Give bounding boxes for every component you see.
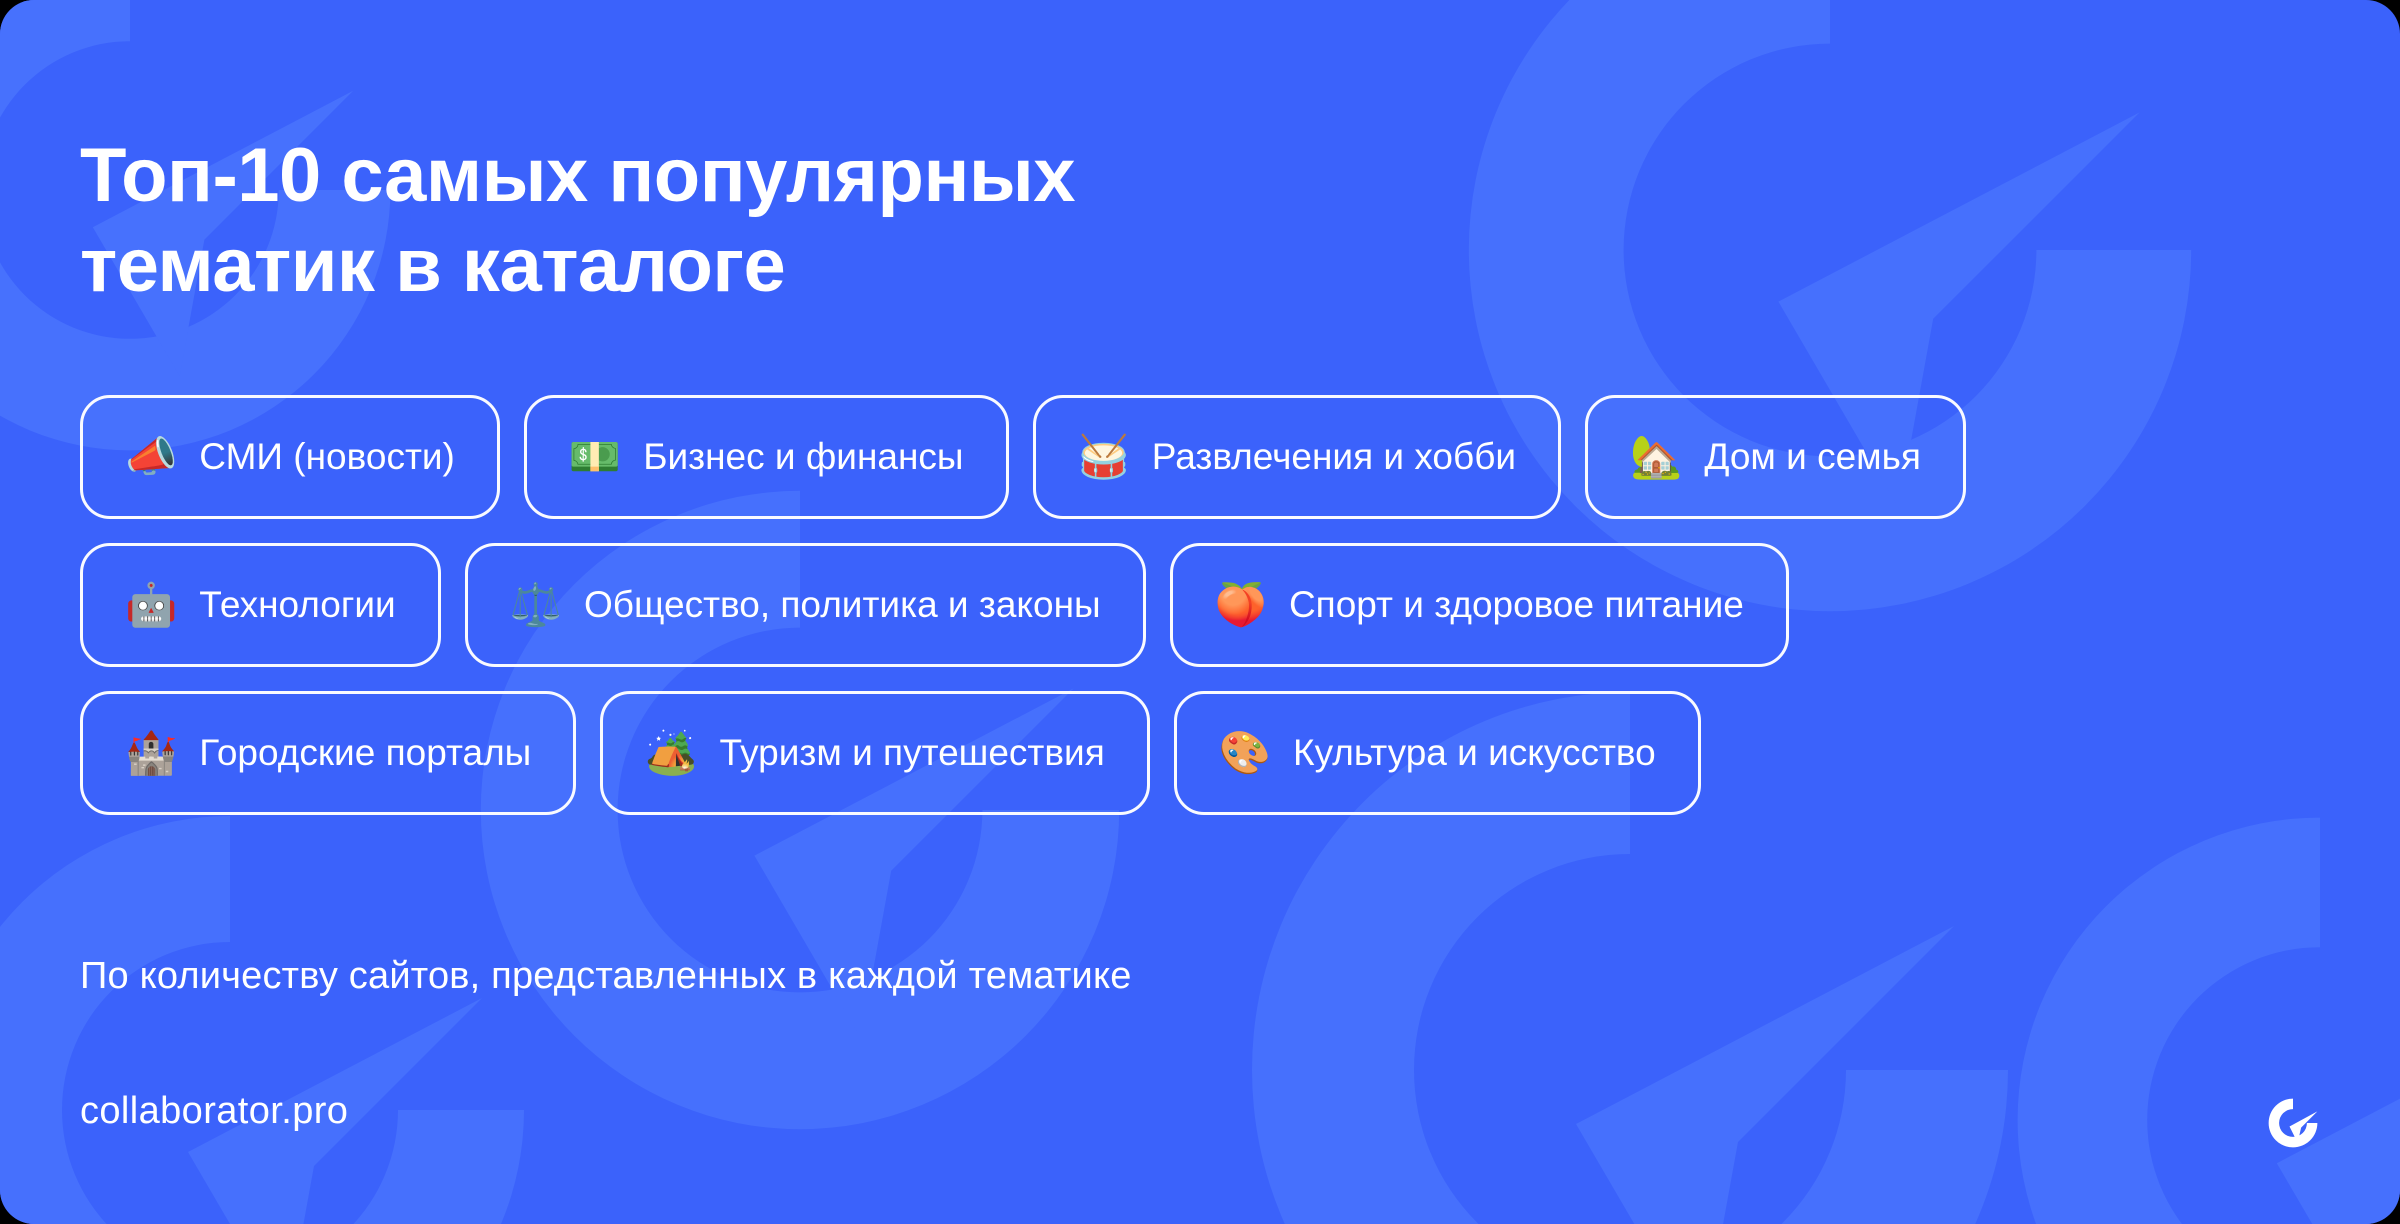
megaphone-icon: 📣 (125, 436, 177, 478)
topic-pill[interactable]: 🏰Городские порталы (80, 691, 576, 815)
topic-pill-label: Туризм и путешествия (720, 732, 1105, 774)
topic-pill-label: Развлечения и хобби (1152, 436, 1516, 478)
topic-pill-row: 🤖Технологии⚖️Общество, политика и законы… (80, 543, 2320, 667)
house-with-garden-icon: 🏡 (1630, 436, 1682, 478)
balance-scale-icon: ⚖️ (510, 584, 562, 626)
page-title: Топ-10 самых популярных тематик в катало… (80, 131, 1580, 310)
subtitle-caption: По количеству сайтов, представленных в к… (80, 955, 1132, 998)
collaborator-logo-icon (2264, 1094, 2322, 1152)
camping-tent-icon: 🏕️ (645, 732, 697, 774)
money-banknote-icon: 💵 (569, 436, 621, 478)
robot-icon: 🤖 (125, 584, 177, 626)
topic-pill-label: СМИ (новости) (199, 436, 455, 478)
topic-pill-list: 📣СМИ (новости)💵Бизнес и финансы🥁Развлече… (80, 395, 2320, 839)
topic-pill-row: 🏰Городские порталы🏕️Туризм и путешествия… (80, 691, 2320, 815)
topic-pill-label: Бизнес и финансы (643, 436, 963, 478)
topic-pill[interactable]: 🤖Технологии (80, 543, 441, 667)
topic-pill-label: Культура и искусство (1293, 732, 1656, 774)
card-content: Топ-10 самых популярных тематик в катало… (0, 0, 2400, 1224)
topic-pill-row: 📣СМИ (новости)💵Бизнес и финансы🥁Развлече… (80, 395, 2320, 519)
topic-pill-label: Общество, политика и законы (584, 584, 1101, 626)
castle-icon: 🏰 (125, 732, 177, 774)
topic-pill-label: Технологии (199, 584, 395, 626)
artist-palette-icon: 🎨 (1219, 732, 1271, 774)
topic-pill[interactable]: 🍑Спорт и здоровое питание (1170, 543, 1789, 667)
topic-pill-label: Спорт и здоровое питание (1289, 584, 1744, 626)
topic-pill[interactable]: 🎨Культура и искусство (1174, 691, 1701, 815)
drum-icon: 🥁 (1078, 436, 1130, 478)
site-url[interactable]: collaborator.pro (80, 1090, 348, 1133)
topic-pill[interactable]: 💵Бизнес и финансы (524, 395, 1009, 519)
topic-pill[interactable]: ⚖️Общество, политика и законы (465, 543, 1146, 667)
topic-pill-label: Дом и семья (1704, 436, 1921, 478)
topic-pill[interactable]: 🏡Дом и семья (1585, 395, 1966, 519)
peach-icon: 🍑 (1215, 584, 1267, 626)
topic-pill-label: Городские порталы (199, 732, 531, 774)
topic-pill[interactable]: 📣СМИ (новости) (80, 395, 500, 519)
infographic-card: Топ-10 самых популярных тематик в катало… (0, 0, 2400, 1224)
topic-pill[interactable]: 🥁Развлечения и хобби (1033, 395, 1562, 519)
topic-pill[interactable]: 🏕️Туризм и путешествия (600, 691, 1150, 815)
